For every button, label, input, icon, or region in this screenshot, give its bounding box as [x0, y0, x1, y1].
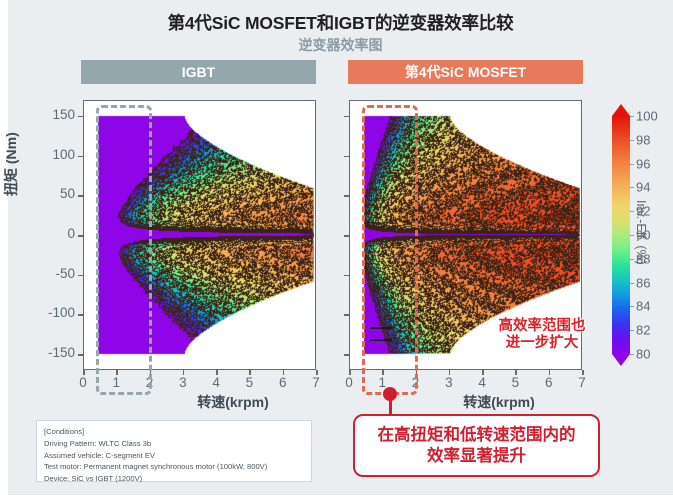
x-tick-mark	[515, 370, 517, 375]
colorbar-tick-mark	[630, 116, 634, 117]
y-tick-label: -100	[31, 305, 75, 320]
page-subtitle: 逆变器效率图	[8, 35, 673, 55]
screenshot-root: 第4代SiC MOSFET和IGBT的逆变器效率比较 逆变器效率图 IGBT 第…	[0, 0, 673, 501]
tab-igbt[interactable]: IGBT	[81, 60, 316, 84]
y-tick-label: 50	[31, 186, 75, 201]
x-tick-mark	[349, 370, 351, 375]
x-tick-mark	[249, 370, 251, 375]
x-tick-label: 0	[73, 375, 93, 390]
y-axis-title: 扭矩 (Nm)	[1, 132, 21, 196]
conditions-line: Driving Pattern: WLTC Class 3b	[44, 438, 304, 450]
colorbar-tick-mark	[630, 330, 634, 331]
x-tick-label: 0	[339, 375, 359, 390]
callout-box: 在高扭矩和低转速范围内的 效率显著提升	[353, 414, 600, 477]
y-tick-mark	[344, 235, 349, 237]
colorbar	[612, 104, 630, 366]
x-tick-label: 4	[206, 375, 226, 390]
x-tick-mark	[83, 370, 85, 375]
colorbar-tick-mark	[630, 283, 634, 284]
in-chart-annotation-line2: 进一步扩大	[488, 335, 596, 352]
y-tick-mark	[78, 195, 83, 197]
y-tick-label: 150	[31, 107, 75, 122]
colorbar-gradient	[612, 116, 630, 354]
y-tick-label: -50	[31, 266, 75, 281]
y-tick-mark	[78, 116, 83, 118]
x-tick-label: 5	[505, 375, 525, 390]
colorbar-tick-label: 94	[636, 180, 650, 195]
conditions-line: Assumed vehicle: C-segment EV	[44, 450, 304, 462]
callout-anchor-dot	[383, 387, 397, 401]
x-tick-mark	[283, 370, 285, 375]
x-tick-mark	[582, 370, 584, 375]
y-tick-label: 100	[31, 147, 75, 162]
colorbar-title: Inv.-Eff. (%)	[634, 200, 648, 265]
colorbar-tick-label: 100	[636, 109, 658, 124]
colorbar-cap-bottom	[612, 354, 630, 366]
x-tick-label: 3	[439, 375, 459, 390]
y-tick-mark	[78, 314, 83, 316]
colorbar-tick-label: 84	[636, 299, 650, 314]
colorbar-tick-label: 98	[636, 132, 650, 147]
colorbar-tick-label: 82	[636, 323, 650, 338]
colorbar-tick-mark	[630, 140, 634, 141]
x-tick-label: 3	[173, 375, 193, 390]
colorbar-cap-top	[612, 104, 630, 116]
in-chart-annotation: 高效率范围也 进一步扩大	[488, 318, 596, 351]
y-tick-mark	[78, 354, 83, 356]
conditions-heading: [Conditions]	[44, 426, 304, 438]
conditions-lines: Driving Pattern: WLTC Class 3bAssumed ve…	[44, 438, 304, 485]
x-tick-label: 6	[539, 375, 559, 390]
colorbar-tick-mark	[630, 187, 634, 188]
colorbar-tick-mark	[630, 306, 634, 307]
x-tick-label: 7	[306, 375, 326, 390]
y-tick-mark	[344, 116, 349, 118]
y-tick-label: 0	[31, 226, 75, 241]
x-tick-label: 6	[273, 375, 293, 390]
colorbar-tick-label: 80	[636, 347, 650, 362]
callout-line2: 效率显著提升	[427, 446, 526, 467]
y-tick-mark	[78, 156, 83, 158]
x-tick-mark	[482, 370, 484, 375]
conditions-box: [Conditions] Driving Pattern: WLTC Class…	[36, 420, 312, 482]
x-tick-label: 5	[239, 375, 259, 390]
x-tick-mark	[216, 370, 218, 375]
x-tick-mark	[316, 370, 318, 375]
conditions-line: Device: SiC vs IGBT (1200V)	[44, 473, 304, 485]
y-tick-mark	[344, 314, 349, 316]
x-tick-label: 4	[472, 375, 492, 390]
tab-sic-gen4[interactable]: 第4代SiC MOSFET	[348, 60, 583, 84]
page-title: 第4代SiC MOSFET和IGBT的逆变器效率比较	[8, 10, 673, 35]
highlight-box-igbt	[96, 105, 152, 395]
x-tick-label: 7	[572, 375, 592, 390]
x-axis-title-left: 转速(krpm)	[158, 392, 308, 412]
colorbar-tick-label: 86	[636, 275, 650, 290]
x-tick-mark	[549, 370, 551, 375]
y-tick-mark	[78, 275, 83, 277]
callout-line1: 在高扭矩和低转速范围内的	[378, 425, 576, 446]
y-tick-mark	[344, 354, 349, 356]
colorbar-tick-mark	[630, 354, 634, 355]
highlight-box-sic	[362, 105, 418, 395]
conditions-line: Test motor: Permanent magnet synchronous…	[44, 461, 304, 473]
slide-panel: 第4代SiC MOSFET和IGBT的逆变器效率比较 逆变器效率图 IGBT 第…	[8, 0, 673, 495]
x-axis-title-right: 转速(krpm)	[424, 392, 574, 412]
y-tick-mark	[78, 235, 83, 237]
y-tick-mark	[344, 195, 349, 197]
y-tick-mark	[344, 275, 349, 277]
colorbar-tick-label: 96	[636, 156, 650, 171]
y-tick-mark	[344, 156, 349, 158]
x-tick-mark	[449, 370, 451, 375]
x-tick-mark	[183, 370, 185, 375]
y-tick-label: -150	[31, 345, 75, 360]
in-chart-annotation-line1: 高效率范围也	[488, 318, 596, 335]
colorbar-tick-mark	[630, 164, 634, 165]
